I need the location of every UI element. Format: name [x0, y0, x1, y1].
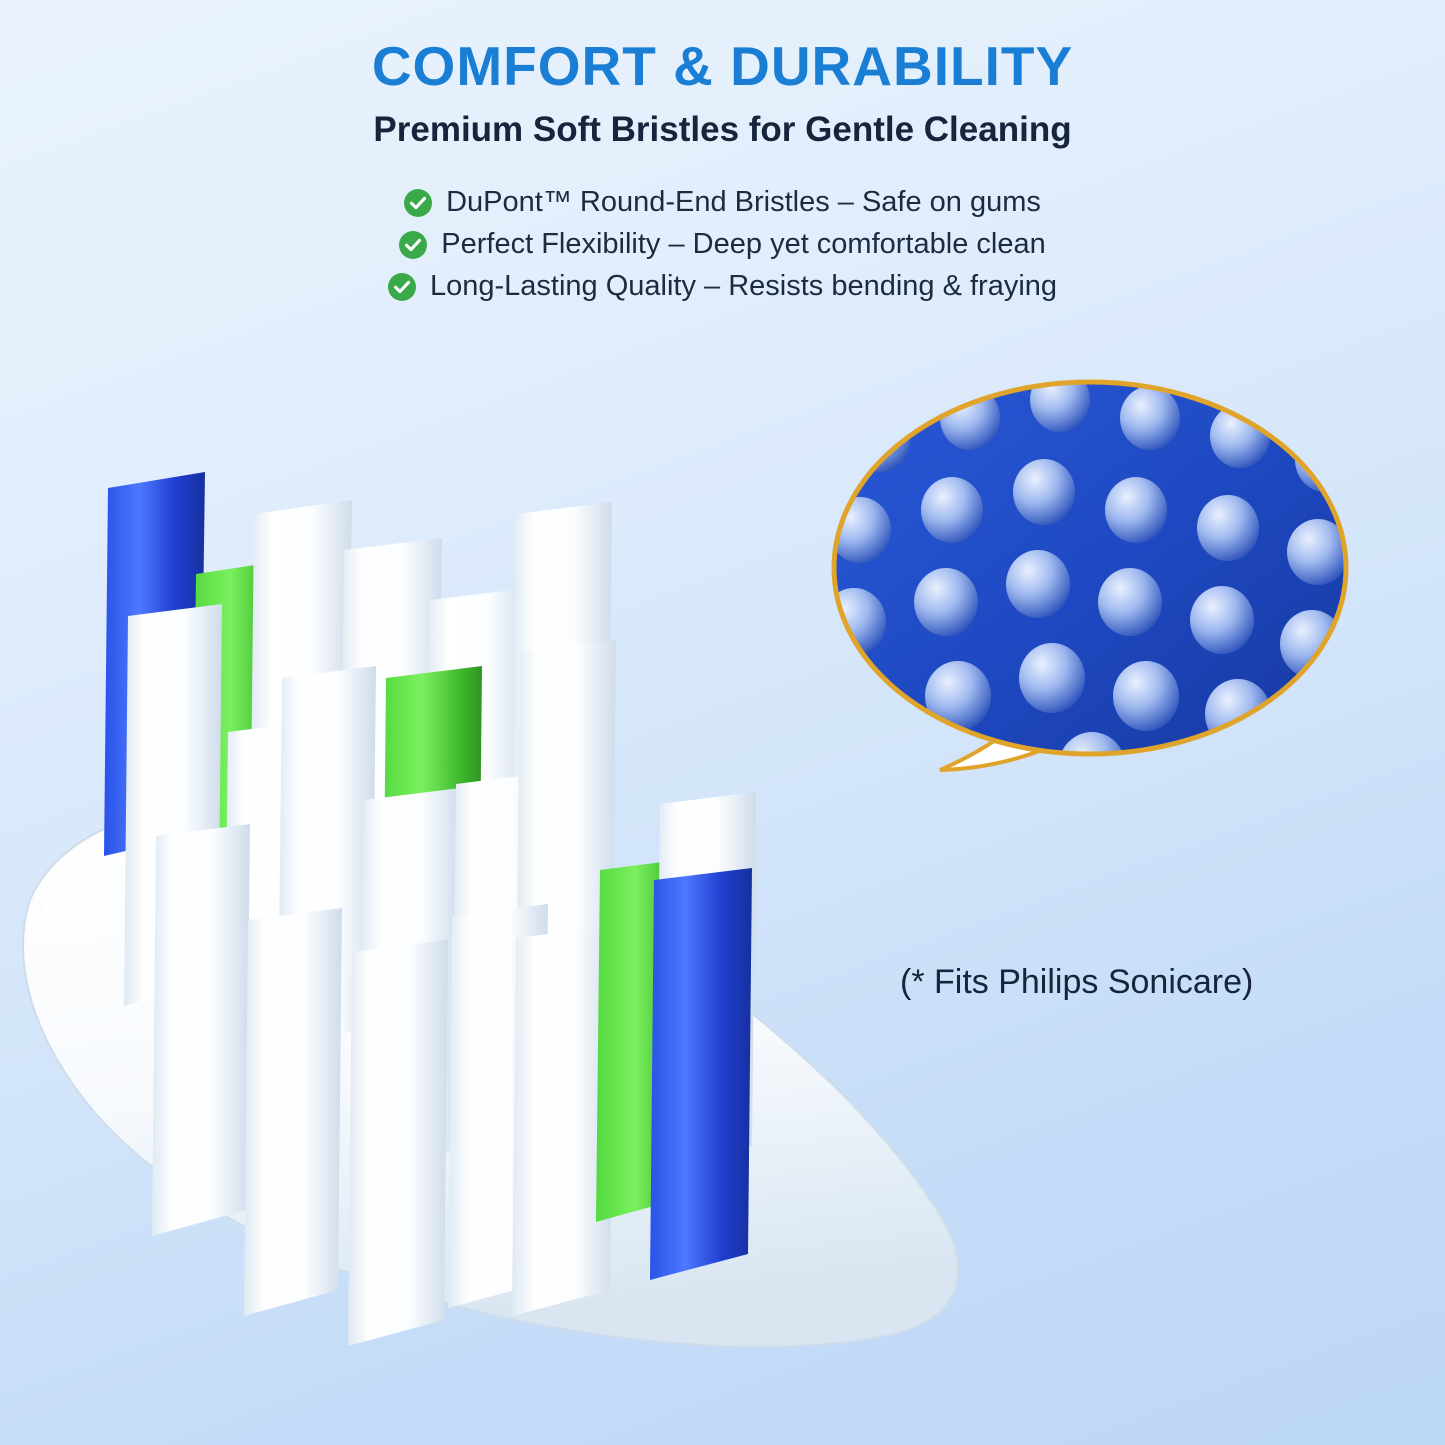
list-item: Perfect Flexibility – Deep yet comfortab… [399, 228, 1045, 261]
list-item-label: DuPont™ Round-End Bristles – Safe on gum… [446, 186, 1041, 219]
check-circle-icon [404, 189, 432, 217]
bristle-tuft-white [152, 824, 250, 1236]
feature-list: DuPont™ Round-End Bristles – Safe on gum… [0, 186, 1445, 303]
bristle-tuft-blue [650, 868, 752, 1280]
compatibility-note: (* Fits Philips Sonicare) [900, 963, 1253, 1002]
product-infographic: COMFORT & DURABILITY Premium Soft Bristl… [0, 0, 1445, 1445]
check-circle-icon [399, 231, 427, 259]
list-item: DuPont™ Round-End Bristles – Safe on gum… [404, 186, 1041, 219]
page-subtitle: Premium Soft Bristles for Gentle Cleanin… [0, 110, 1445, 150]
list-item-label: Long-Lasting Quality – Resists bending &… [430, 270, 1057, 303]
callout-panel [820, 370, 1360, 790]
list-item: Long-Lasting Quality – Resists bending &… [388, 270, 1057, 303]
list-item-label: Perfect Flexibility – Deep yet comfortab… [441, 228, 1045, 261]
bristle-tip-magnified-closeup [820, 370, 1360, 790]
page-title: COMFORT & DURABILITY [0, 34, 1445, 98]
check-circle-icon [388, 273, 416, 301]
bristle-tuft-white [348, 940, 448, 1346]
bristle-tuft-white [244, 908, 342, 1316]
